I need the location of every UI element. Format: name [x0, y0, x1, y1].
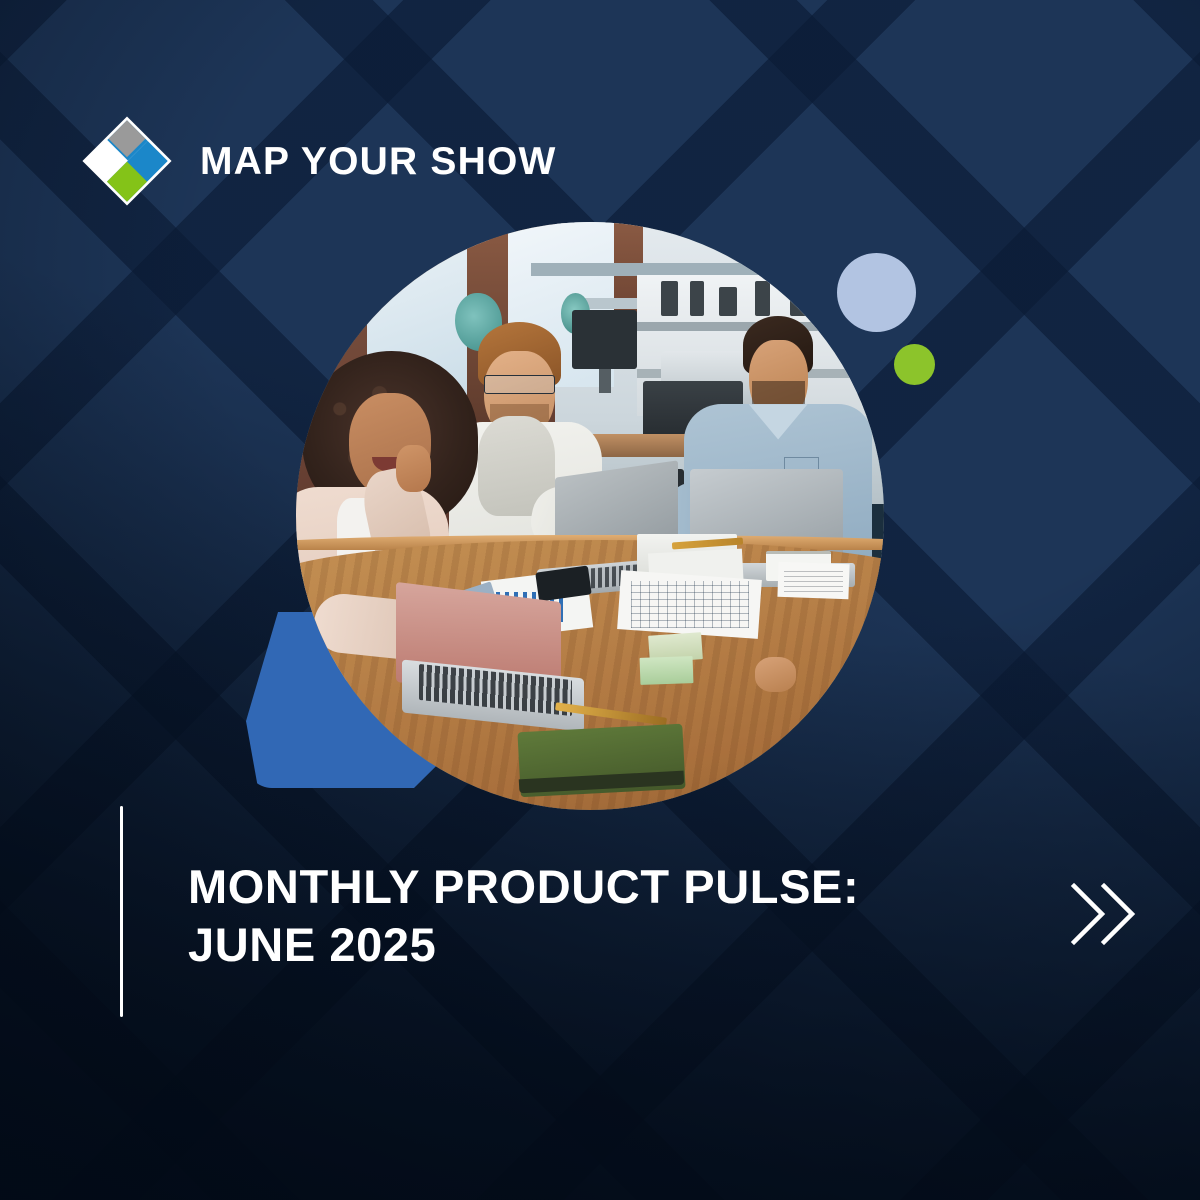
social-graphic-canvas: MAP YOUR SHOW MONTHLY PRODUCT PULSE: JUN…: [0, 0, 1200, 1200]
title-vertical-rule: [120, 806, 123, 1017]
brand-name: MAP YOUR SHOW: [200, 140, 557, 184]
office-team-photo: [296, 222, 884, 810]
green-dot-decoration: [894, 344, 935, 385]
light-blue-dot-decoration: [837, 253, 916, 332]
double-chevron-right-icon[interactable]: [1068, 878, 1142, 950]
page-title: MONTHLY PRODUCT PULSE: JUNE 2025: [188, 858, 948, 974]
mys-diamond-logo-icon[interactable]: [82, 116, 172, 206]
hero-photo-circle: [296, 222, 884, 810]
